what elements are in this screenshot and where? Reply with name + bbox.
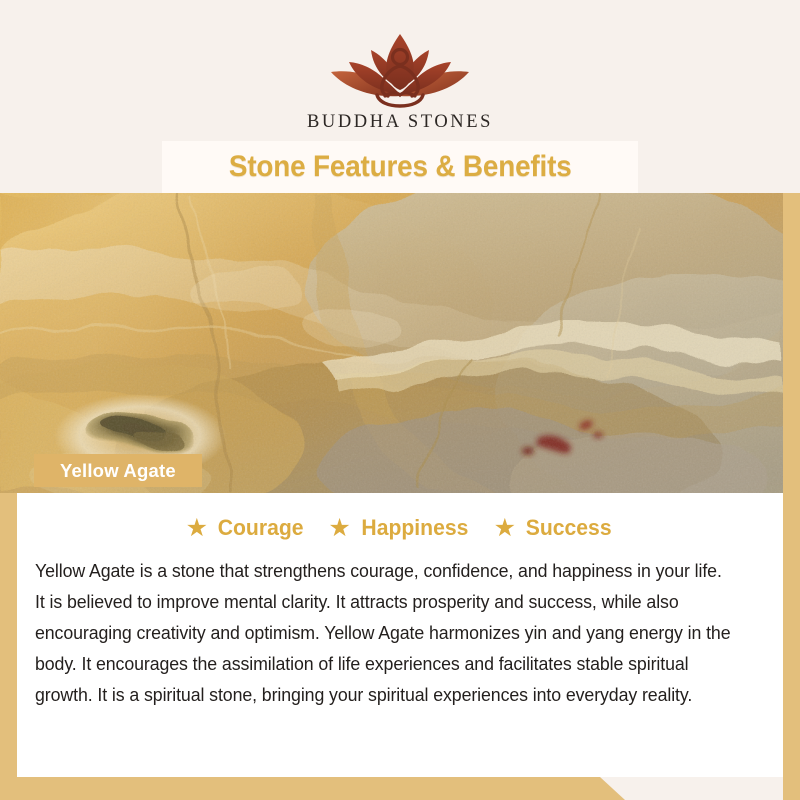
star-icon: ★ [328, 516, 350, 541]
decorative-band-bottom [0, 777, 800, 800]
benefits-row: ★ Courage ★ Happiness ★ Success [35, 515, 765, 541]
benefit-label: Courage [218, 515, 304, 541]
benefit-item-courage: ★ Courage [186, 515, 307, 541]
stone-name-badge: Yellow Agate [34, 454, 202, 487]
stone-image [0, 193, 783, 493]
benefit-item-happiness: ★ Happiness [328, 515, 471, 541]
stone-name-label: Yellow Agate [60, 460, 176, 482]
header: BUDDHA STONES Stone Features & Benefits [0, 0, 800, 193]
stone-description: Yellow Agate is a stone that strengthens… [35, 555, 732, 710]
star-icon: ★ [494, 516, 516, 541]
poster-root: BUDDHA STONES Stone Features & Benefits [0, 0, 800, 800]
agate-texture-illustration [0, 193, 783, 493]
benefit-label: Success [526, 515, 612, 541]
brand-name: BUDDHA STONES [307, 112, 493, 133]
benefit-label: Happiness [361, 515, 468, 541]
title-card: Stone Features & Benefits [162, 141, 638, 193]
brand-logo: BUDDHA STONES [0, 22, 800, 133]
benefit-item-success: ★ Success [494, 515, 615, 541]
page-title: Stone Features & Benefits [229, 150, 572, 184]
star-icon: ★ [186, 516, 208, 541]
content-panel: ★ Courage ★ Happiness ★ Success Yellow A… [17, 493, 783, 777]
lotus-meditation-icon [315, 22, 485, 108]
